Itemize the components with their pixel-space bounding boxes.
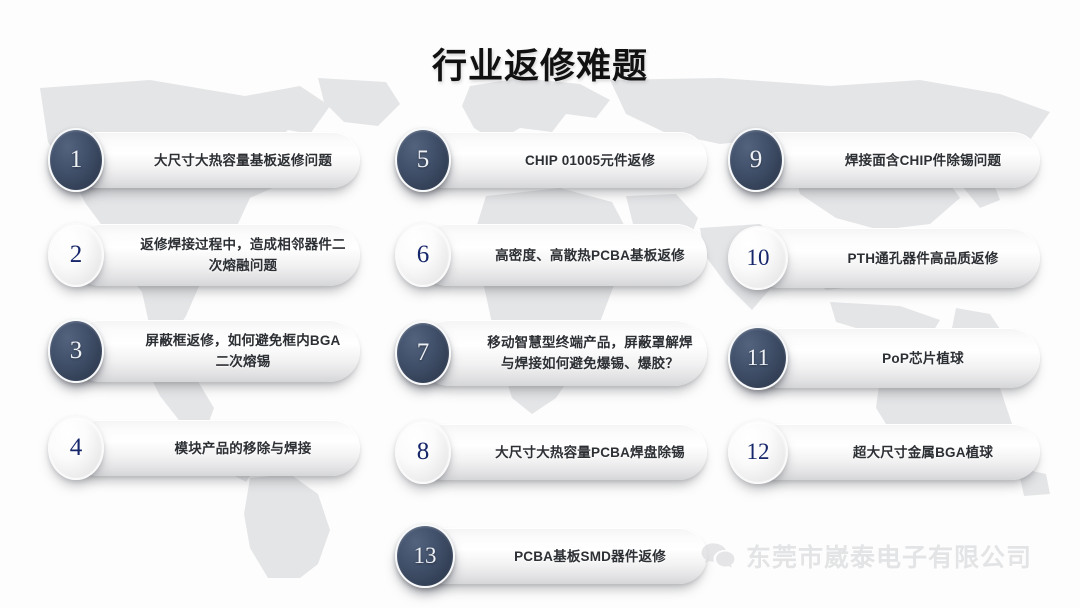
problem-item-label: 超大尺寸金属BGA植球 [820, 424, 1026, 480]
company-name: 东莞市崴泰电子有限公司 [746, 538, 1032, 574]
problem-item-11[interactable]: PoP芯片植球11 [728, 328, 1040, 388]
problem-item-label: PCBA基板SMD器件返修 [487, 528, 693, 584]
problem-item-number-badge: 10 [728, 226, 788, 290]
problem-item-9[interactable]: 焊接面含CHIP件除锡问题9 [728, 132, 1040, 188]
problem-item-number-badge: 1 [48, 128, 104, 192]
problem-item-number-badge: 4 [48, 416, 104, 480]
problem-item-number-badge: 6 [395, 223, 451, 287]
problem-item-12[interactable]: 超大尺寸金属BGA植球12 [728, 424, 1040, 480]
problem-item-number-badge: 5 [395, 128, 451, 192]
problem-item-10[interactable]: PTH通孔器件高品质返修10 [728, 228, 1040, 288]
problem-item-7[interactable]: 移动智慧型终端产品，屏蔽罩解焊与焊接如何避免爆锡、爆胶？7 [395, 320, 707, 386]
problem-item-5[interactable]: CHIP 01005元件返修5 [395, 132, 707, 188]
problem-item-label: 大尺寸大热容量PCBA焊盘除锡 [487, 424, 693, 480]
problem-item-number-badge: 8 [395, 420, 451, 484]
problem-item-number-badge: 3 [48, 319, 104, 383]
company-watermark: 东莞市崴泰电子有限公司 [700, 538, 1032, 574]
slide-canvas: 行业返修难题 大尺寸大热容量基板返修问题1返修焊接过程中，造成相邻器件二次熔融问… [0, 0, 1080, 608]
problem-item-1[interactable]: 大尺寸大热容量基板返修问题1 [48, 132, 360, 188]
problem-item-13[interactable]: PCBA基板SMD器件返修13 [395, 528, 707, 584]
problem-item-label: 移动智慧型终端产品，屏蔽罩解焊与焊接如何避免爆锡、爆胶？ [487, 320, 693, 386]
problem-item-number-badge: 11 [728, 326, 788, 390]
problem-item-label: 焊接面含CHIP件除锡问题 [820, 132, 1026, 188]
problem-item-number-badge: 9 [728, 128, 784, 192]
page-title: 行业返修难题 [0, 38, 1080, 89]
world-map-background [0, 0, 1080, 608]
problem-item-6[interactable]: 高密度、高散热PCBA基板返修6 [395, 224, 707, 286]
problem-item-label: 高密度、高散热PCBA基板返修 [487, 224, 693, 286]
problem-item-8[interactable]: 大尺寸大热容量PCBA焊盘除锡8 [395, 424, 707, 480]
wechat-icon [700, 541, 736, 571]
problem-item-3[interactable]: 屏蔽框返修，如何避免框内BGA二次熔锡3 [48, 320, 360, 382]
problem-item-number-badge: 7 [395, 321, 451, 385]
problem-item-4[interactable]: 模块产品的移除与焊接4 [48, 420, 360, 476]
problem-item-label: 大尺寸大热容量基板返修问题 [140, 132, 346, 188]
problem-item-label: PTH通孔器件高品质返修 [820, 228, 1026, 288]
problem-item-label: 模块产品的移除与焊接 [140, 420, 346, 476]
problem-item-2[interactable]: 返修焊接过程中，造成相邻器件二次熔融问题2 [48, 224, 360, 286]
problem-item-number-badge: 13 [395, 524, 455, 588]
problem-item-label: PoP芯片植球 [820, 328, 1026, 388]
problem-item-label: CHIP 01005元件返修 [487, 132, 693, 188]
problem-item-label: 屏蔽框返修，如何避免框内BGA二次熔锡 [140, 320, 346, 382]
problem-item-number-badge: 2 [48, 223, 104, 287]
problem-item-number-badge: 12 [728, 420, 788, 484]
problem-item-label: 返修焊接过程中，造成相邻器件二次熔融问题 [140, 224, 346, 286]
